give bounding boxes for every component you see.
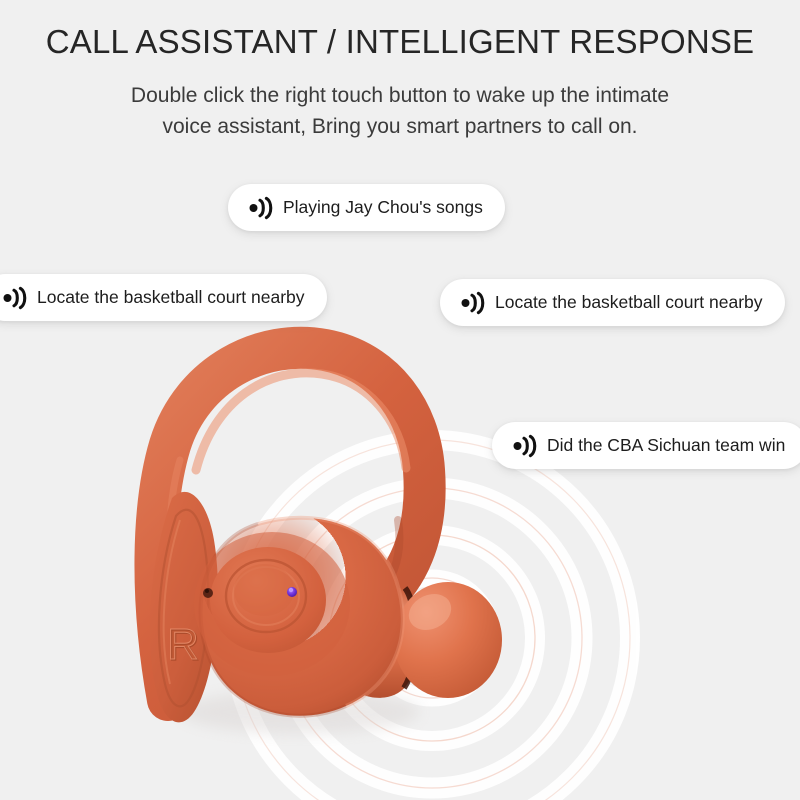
earbud-body [194, 518, 403, 716]
voice-command-label: Did the CBA Sichuan team win [547, 437, 785, 455]
voice-command-label: Locate the basketball court nearby [37, 289, 305, 307]
subtitle-line-2: voice assistant, Bring you smart partner… [0, 111, 800, 142]
sound-wave-icon [2, 286, 28, 310]
voice-command-label: Playing Jay Chou's songs [283, 199, 483, 217]
voice-command-bubble-locate-court-right[interactable]: Locate the basketball court nearby [440, 279, 785, 326]
page-title: CALL ASSISTANT / INTELLIGENT RESPONSE [0, 22, 800, 62]
sound-wave-icon [460, 291, 486, 315]
voice-command-bubble-playing-song[interactable]: Playing Jay Chou's songs [228, 184, 505, 231]
sound-wave-icon [512, 434, 538, 458]
sound-wave-icon [248, 196, 274, 220]
svg-text:R: R [167, 620, 199, 669]
product-banner: R R [0, 0, 800, 800]
page-subtitle: Double click the right touch button to w… [0, 80, 800, 142]
voice-command-bubble-cba-sichuan[interactable]: Did the CBA Sichuan team win [492, 422, 800, 469]
ear-tip [394, 582, 502, 698]
voice-command-bubble-locate-court-left[interactable]: Locate the basketball court nearby [0, 274, 327, 321]
voice-command-label: Locate the basketball court nearby [495, 294, 763, 312]
subtitle-line-1: Double click the right touch button to w… [0, 80, 800, 111]
